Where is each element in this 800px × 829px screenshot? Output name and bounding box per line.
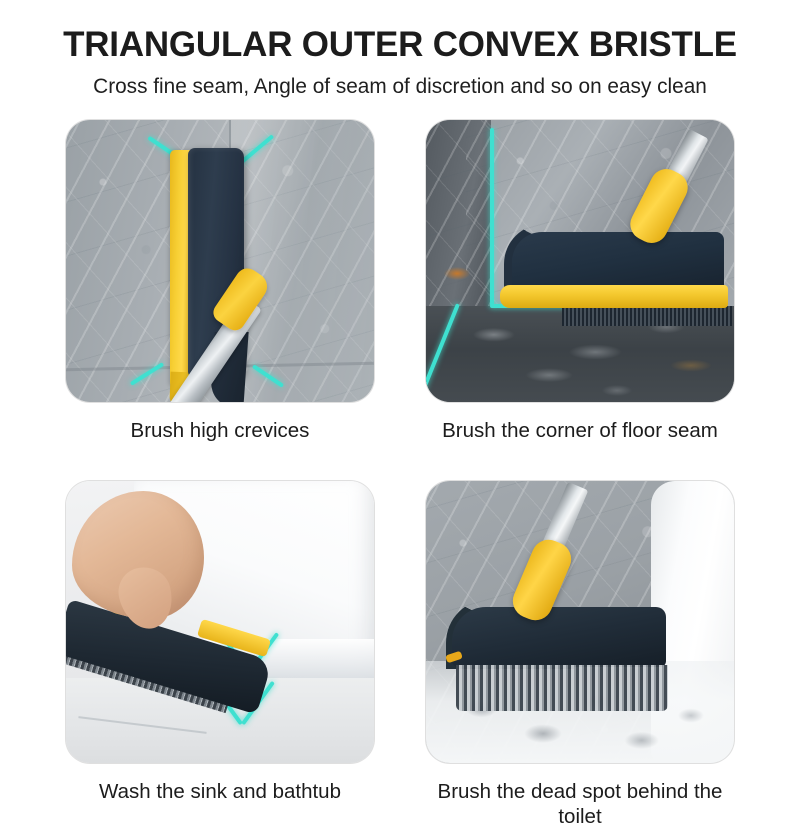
cyan-seam-vertical bbox=[490, 128, 494, 306]
feature-panel-brush-dead-spot-toilet: Brush the dead spot behind the toilet bbox=[426, 481, 734, 829]
photo-brush-corner-floor-seam bbox=[426, 120, 734, 402]
photo-brush-dead-spot-toilet bbox=[426, 481, 734, 763]
photo-wash-sink-bathtub bbox=[66, 481, 374, 763]
squeegee-blade bbox=[500, 285, 728, 308]
rust-stain bbox=[444, 267, 470, 280]
wall-tile-seam bbox=[229, 120, 374, 402]
panel-caption: Wash the sink and bathtub bbox=[99, 779, 341, 804]
panel-caption: Brush the dead spot behind the toilet bbox=[430, 779, 730, 829]
panel-row-bottom: Wash the sink and bathtub bbox=[0, 481, 800, 829]
panel-caption: Brush high crevices bbox=[131, 418, 310, 443]
brush-bristles bbox=[456, 665, 668, 711]
feature-panel-wash-sink-bathtub: Wash the sink and bathtub bbox=[66, 481, 374, 829]
brush-bristles bbox=[562, 306, 732, 326]
photo-brush-high-crevices bbox=[66, 120, 374, 402]
panel-row-top: Brush high crevices bbox=[0, 120, 800, 443]
page-title: TRIANGULAR OUTER CONVEX BRISTLE bbox=[6, 26, 794, 64]
feature-panel-brush-corner-floor-seam: Brush the corner of floor seam bbox=[426, 120, 734, 443]
header: TRIANGULAR OUTER CONVEX BRISTLE Cross fi… bbox=[0, 0, 800, 98]
feature-panel-grid: Brush high crevices bbox=[0, 120, 800, 829]
page-subtitle: Cross fine seam, Angle of seam of discre… bbox=[4, 75, 796, 98]
panel-caption: Brush the corner of floor seam bbox=[442, 418, 718, 443]
product-feature-infographic: TRIANGULAR OUTER CONVEX BRISTLE Cross fi… bbox=[0, 0, 800, 800]
feature-panel-brush-high-crevices: Brush high crevices bbox=[66, 120, 374, 443]
brush-head-body bbox=[512, 232, 724, 290]
brush-head-body bbox=[452, 607, 666, 667]
